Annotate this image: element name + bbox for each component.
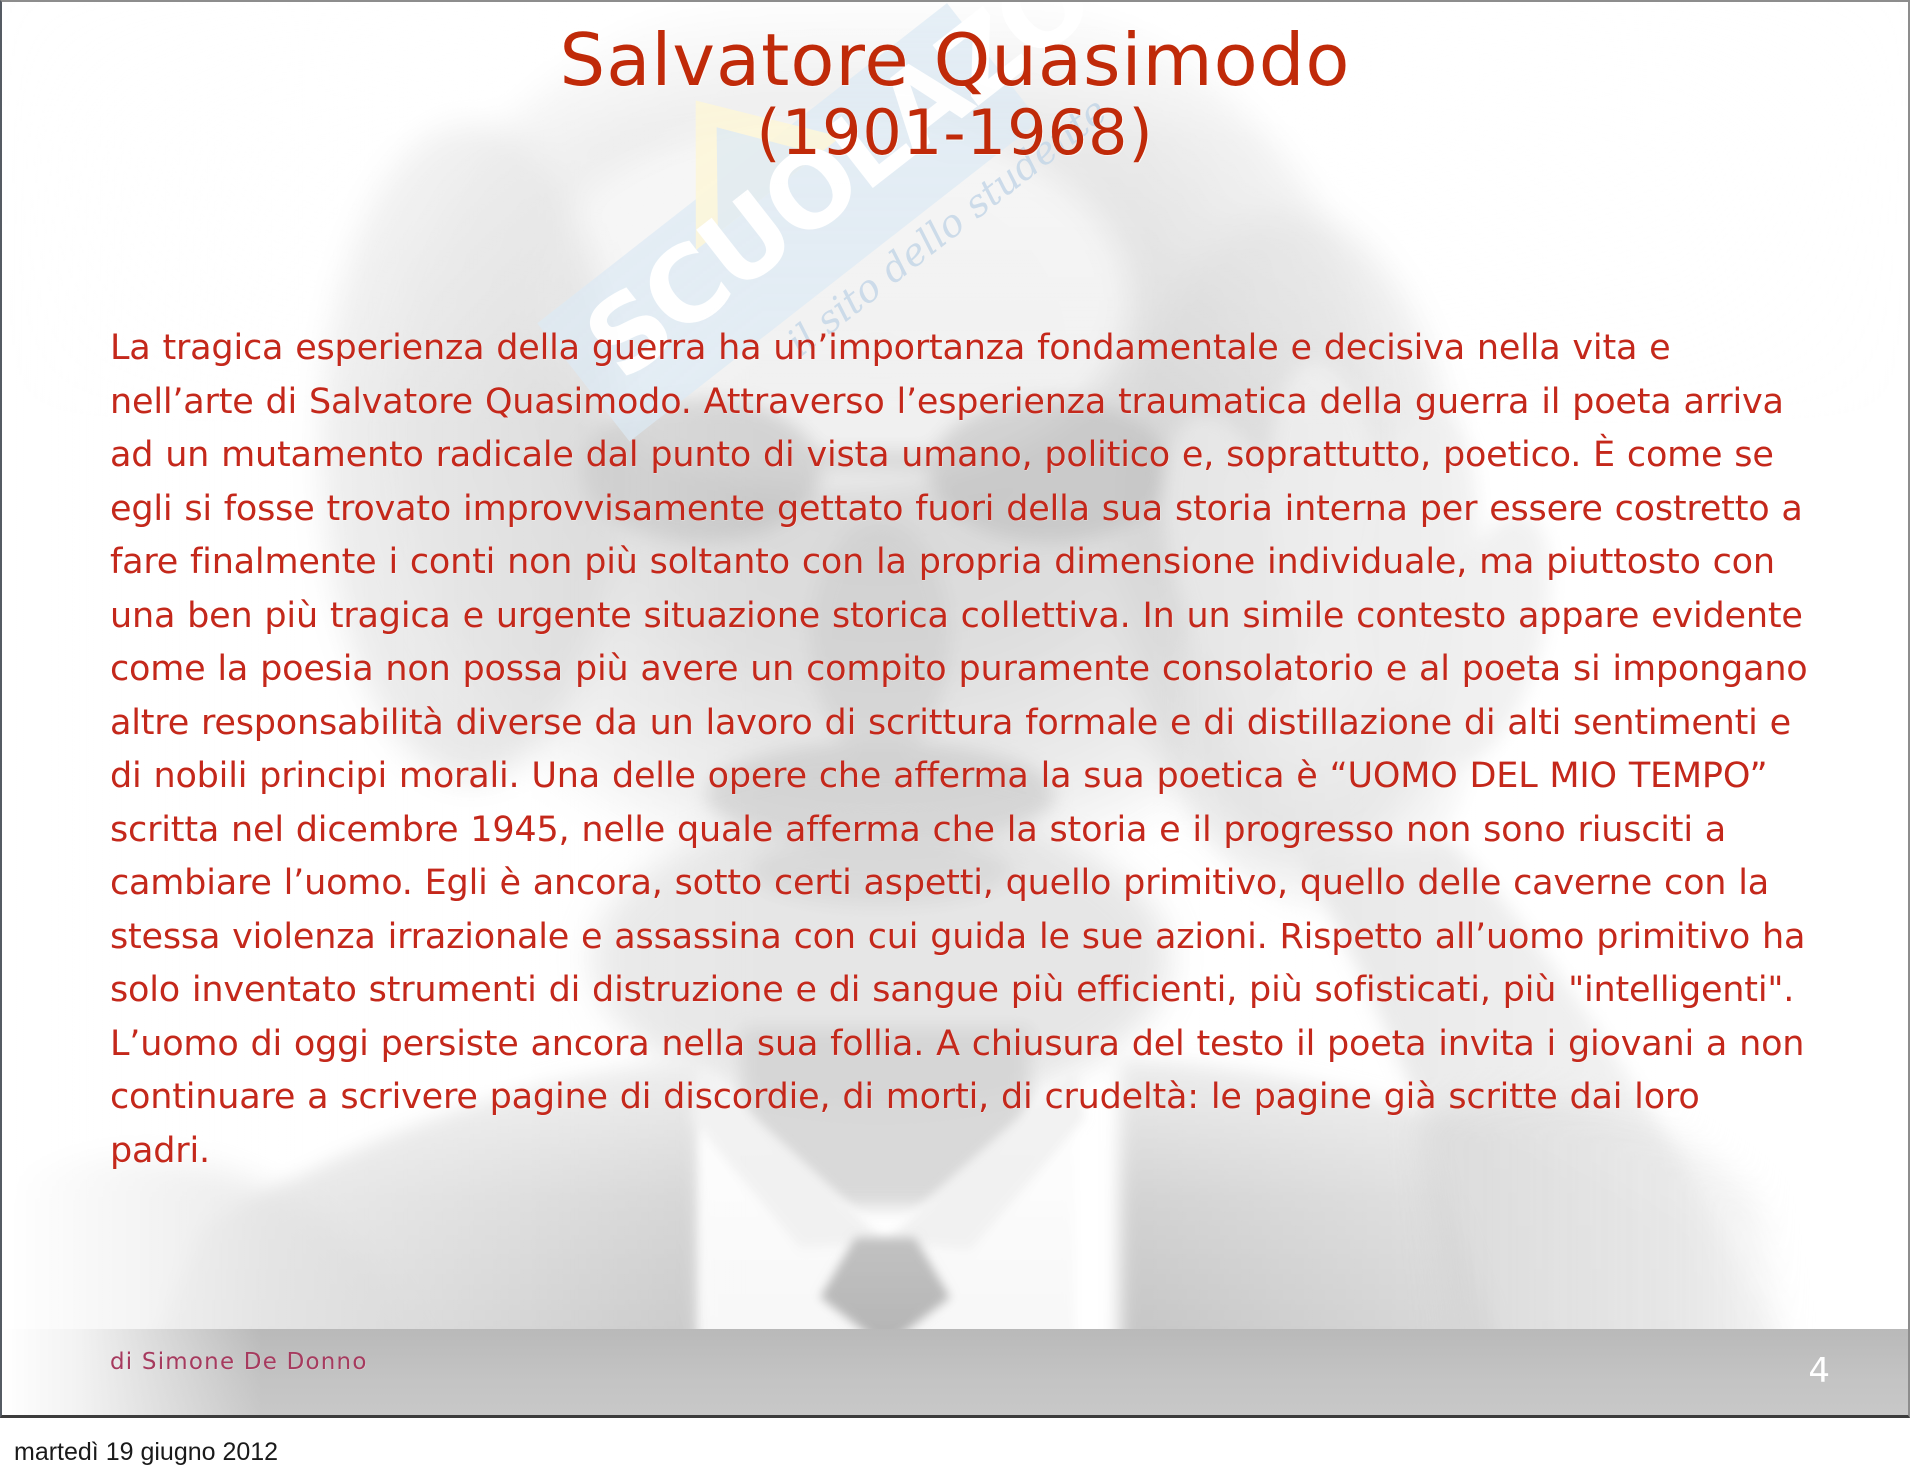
slide-canvas: SCUOLAZOO il sito dello studente Salvato…: [0, 0, 1910, 1418]
document-date: martedì 19 giugno 2012: [14, 1438, 278, 1467]
body-paragraph: La tragica esperienza della guerra ha un…: [110, 322, 1810, 1178]
slide-page-number: 4: [1808, 1351, 1830, 1391]
slide-body-text: La tragica esperienza della guerra ha un…: [110, 322, 1810, 1178]
page-title: Salvatore Quasimodo: [2, 24, 1908, 97]
slide-title-block: Salvatore Quasimodo (1901-1968): [2, 24, 1908, 169]
author-credit: di Simone De Donno: [110, 1349, 368, 1375]
page-subtitle-dates: (1901-1968): [2, 97, 1908, 168]
